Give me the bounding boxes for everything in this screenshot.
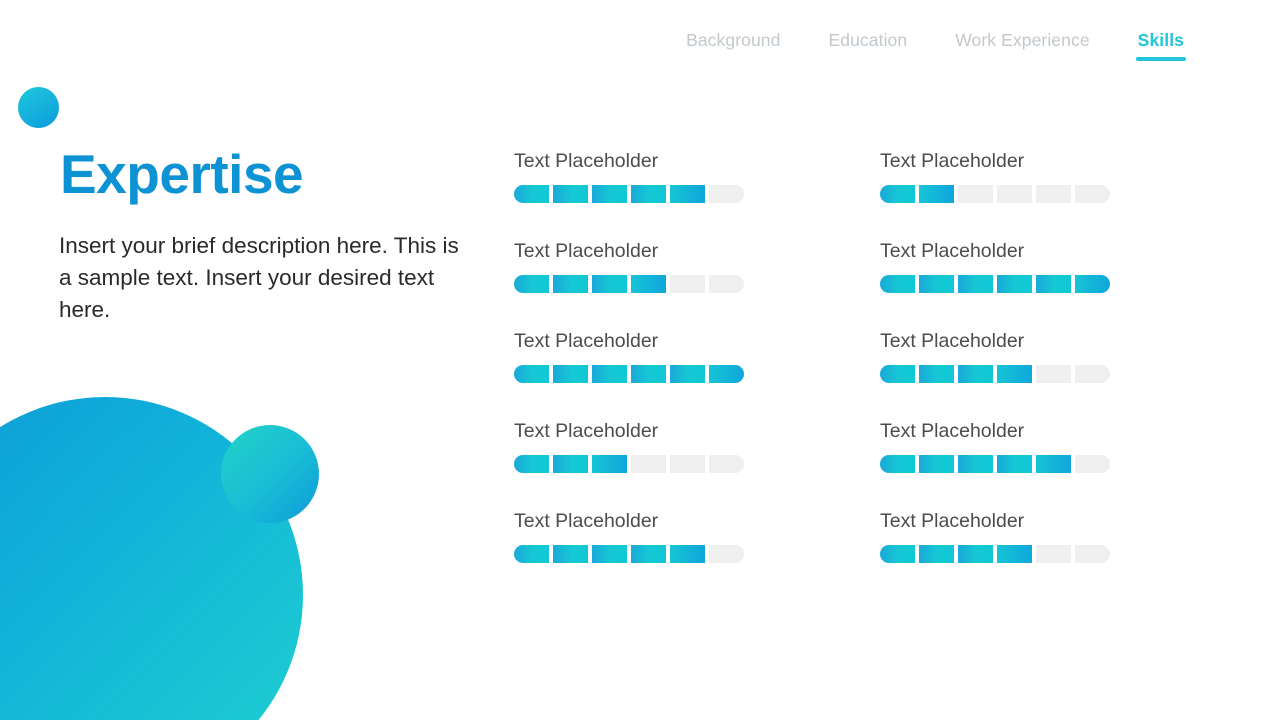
skills-column-left: Text PlaceholderText PlaceholderText Pla… bbox=[514, 150, 880, 563]
skill-segment-filled[interactable] bbox=[592, 455, 627, 473]
skill-segment-filled[interactable] bbox=[553, 455, 588, 473]
skill-segment-filled[interactable] bbox=[592, 185, 627, 203]
skill-rating-bar[interactable] bbox=[880, 275, 1116, 293]
skill-segment-filled[interactable] bbox=[1036, 455, 1071, 473]
skill-segment-empty[interactable] bbox=[709, 545, 744, 563]
skill-segment-filled[interactable] bbox=[670, 365, 705, 383]
skill-segment-filled[interactable] bbox=[592, 545, 627, 563]
skill-rating-bar[interactable] bbox=[514, 545, 748, 563]
skill-rating-bar[interactable] bbox=[880, 365, 1116, 383]
skill-segment-filled[interactable] bbox=[592, 275, 627, 293]
skill-segment-filled[interactable] bbox=[1036, 275, 1071, 293]
skill-segment-filled[interactable] bbox=[919, 545, 954, 563]
page-title: Expertise bbox=[60, 146, 479, 204]
skill-rating-bar[interactable] bbox=[880, 185, 1116, 203]
top-left-gradient-dot-decor bbox=[18, 87, 59, 128]
nav-active-underline bbox=[1136, 57, 1186, 61]
skill-segment-empty[interactable] bbox=[631, 455, 666, 473]
skill-label: Text Placeholder bbox=[514, 240, 880, 263]
nav-item-background[interactable]: Background bbox=[662, 26, 804, 61]
skill-segment-filled[interactable] bbox=[880, 275, 915, 293]
skill-segment-empty[interactable] bbox=[709, 455, 744, 473]
skill-segment-filled[interactable] bbox=[670, 185, 705, 203]
skill-row: Text Placeholder bbox=[880, 150, 1180, 203]
skill-segment-filled[interactable] bbox=[997, 545, 1032, 563]
skill-segment-filled[interactable] bbox=[919, 275, 954, 293]
nav-item-work-experience[interactable]: Work Experience bbox=[931, 26, 1113, 61]
skill-segment-filled[interactable] bbox=[514, 455, 549, 473]
skill-segment-filled[interactable] bbox=[514, 365, 549, 383]
skill-segment-filled[interactable] bbox=[631, 365, 666, 383]
skill-segment-empty[interactable] bbox=[670, 275, 705, 293]
skill-segment-filled[interactable] bbox=[553, 365, 588, 383]
skill-segment-filled[interactable] bbox=[553, 275, 588, 293]
skill-segment-empty[interactable] bbox=[709, 185, 744, 203]
skill-segment-filled[interactable] bbox=[880, 365, 915, 383]
skill-segment-filled[interactable] bbox=[997, 365, 1032, 383]
skill-rating-bar[interactable] bbox=[880, 455, 1116, 473]
skill-row: Text Placeholder bbox=[514, 150, 880, 203]
skill-label: Text Placeholder bbox=[514, 420, 880, 443]
skill-row: Text Placeholder bbox=[880, 240, 1180, 293]
skill-rating-bar[interactable] bbox=[514, 455, 748, 473]
skill-segment-filled[interactable] bbox=[958, 365, 993, 383]
skill-label: Text Placeholder bbox=[514, 150, 880, 173]
skill-label: Text Placeholder bbox=[514, 510, 880, 533]
skill-row: Text Placeholder bbox=[880, 420, 1180, 473]
skill-segment-empty[interactable] bbox=[1036, 545, 1071, 563]
skill-segment-filled[interactable] bbox=[553, 185, 588, 203]
skill-segment-empty[interactable] bbox=[958, 185, 993, 203]
skill-row: Text Placeholder bbox=[514, 330, 880, 383]
skill-segment-filled[interactable] bbox=[958, 455, 993, 473]
skill-segment-empty[interactable] bbox=[1075, 365, 1110, 383]
skill-segment-filled[interactable] bbox=[919, 365, 954, 383]
slide-canvas: BackgroundEducationWork ExperienceSkills… bbox=[0, 0, 1280, 720]
skill-segment-empty[interactable] bbox=[1075, 545, 1110, 563]
skill-row: Text Placeholder bbox=[514, 420, 880, 473]
skill-segment-filled[interactable] bbox=[958, 545, 993, 563]
skill-segment-filled[interactable] bbox=[553, 545, 588, 563]
skill-rating-bar[interactable] bbox=[514, 185, 748, 203]
nav-item-skills[interactable]: Skills bbox=[1114, 26, 1208, 61]
skill-segment-filled[interactable] bbox=[631, 185, 666, 203]
skill-segment-filled[interactable] bbox=[514, 185, 549, 203]
skill-segment-empty[interactable] bbox=[997, 185, 1032, 203]
skills-grid: Text PlaceholderText PlaceholderText Pla… bbox=[514, 150, 1180, 563]
skill-rating-bar[interactable] bbox=[514, 365, 748, 383]
skill-segment-filled[interactable] bbox=[631, 275, 666, 293]
skill-segment-filled[interactable] bbox=[919, 185, 954, 203]
skill-row: Text Placeholder bbox=[880, 330, 1180, 383]
nav-item-education[interactable]: Education bbox=[804, 26, 931, 61]
page-description: Insert your brief description here. This… bbox=[59, 230, 459, 326]
skill-segment-filled[interactable] bbox=[631, 545, 666, 563]
skill-segment-filled[interactable] bbox=[592, 365, 627, 383]
skill-row: Text Placeholder bbox=[514, 240, 880, 293]
skill-segment-filled[interactable] bbox=[670, 545, 705, 563]
skill-label: Text Placeholder bbox=[514, 330, 880, 353]
skill-segment-empty[interactable] bbox=[1075, 455, 1110, 473]
skill-segment-filled[interactable] bbox=[880, 545, 915, 563]
skill-segment-empty[interactable] bbox=[1075, 185, 1110, 203]
skills-column-right: Text PlaceholderText PlaceholderText Pla… bbox=[880, 150, 1180, 563]
skill-segment-empty[interactable] bbox=[670, 455, 705, 473]
skill-segment-filled[interactable] bbox=[880, 185, 915, 203]
skill-segment-empty[interactable] bbox=[709, 275, 744, 293]
skill-row: Text Placeholder bbox=[880, 510, 1180, 563]
large-gradient-circle-decor bbox=[0, 397, 303, 720]
skill-segment-filled[interactable] bbox=[709, 365, 744, 383]
skill-segment-filled[interactable] bbox=[958, 275, 993, 293]
top-navigation: BackgroundEducationWork ExperienceSkills bbox=[662, 0, 1280, 86]
skill-segment-filled[interactable] bbox=[514, 275, 549, 293]
skill-rating-bar[interactable] bbox=[880, 545, 1116, 563]
skill-label: Text Placeholder bbox=[880, 150, 1180, 173]
skill-segment-filled[interactable] bbox=[997, 455, 1032, 473]
skill-label: Text Placeholder bbox=[880, 330, 1180, 353]
skill-segment-empty[interactable] bbox=[1036, 185, 1071, 203]
skill-segment-filled[interactable] bbox=[514, 545, 549, 563]
skill-label: Text Placeholder bbox=[880, 420, 1180, 443]
skill-segment-filled[interactable] bbox=[997, 275, 1032, 293]
skill-label: Text Placeholder bbox=[880, 240, 1180, 263]
skill-segment-filled[interactable] bbox=[919, 455, 954, 473]
skill-row: Text Placeholder bbox=[514, 510, 880, 563]
skill-segment-empty[interactable] bbox=[1036, 365, 1071, 383]
skill-label: Text Placeholder bbox=[880, 510, 1180, 533]
small-gradient-circle-decor bbox=[221, 425, 319, 523]
skill-segment-filled[interactable] bbox=[1075, 275, 1110, 293]
skill-rating-bar[interactable] bbox=[514, 275, 748, 293]
intro-block: Expertise Insert your brief description … bbox=[59, 146, 479, 326]
skill-segment-filled[interactable] bbox=[880, 455, 915, 473]
